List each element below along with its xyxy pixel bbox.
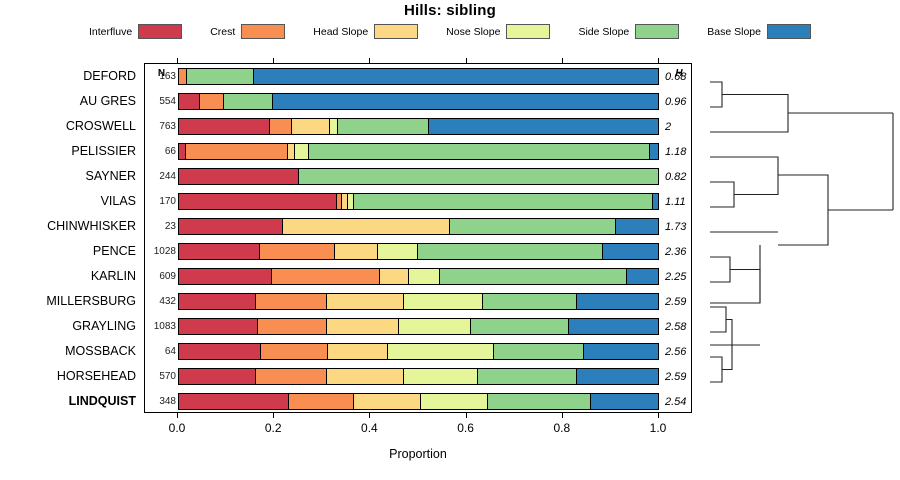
stacked-bar[interactable] xyxy=(178,93,659,110)
stacked-bar[interactable] xyxy=(178,168,659,185)
bar-segment[interactable] xyxy=(650,144,658,159)
h-value: 0.82 xyxy=(662,171,696,183)
h-value: 0.68 xyxy=(662,71,696,83)
bar-segment[interactable] xyxy=(292,119,330,134)
n-value: 432 xyxy=(145,296,176,308)
y-axis-label: PELISSIER xyxy=(4,144,144,158)
bar-segment[interactable] xyxy=(338,119,430,134)
x-axis-tick-label: 0.2 xyxy=(253,421,293,435)
page-title: Hills: sibling xyxy=(0,2,900,19)
bar-segment[interactable] xyxy=(270,119,292,134)
bar-segment[interactable] xyxy=(603,244,658,259)
x-axis-tick-label: 0.4 xyxy=(349,421,389,435)
dendrogram-svg xyxy=(700,60,900,415)
legend-swatch xyxy=(506,24,550,39)
bar-segment[interactable] xyxy=(409,269,440,284)
bar-segment[interactable] xyxy=(179,319,258,334)
h-value: 1.11 xyxy=(662,196,696,208)
chart-row: 5702.59 xyxy=(145,364,691,389)
bar-segment[interactable] xyxy=(179,344,261,359)
y-axis-label: PENCE xyxy=(4,244,144,258)
bar-segment[interactable] xyxy=(380,269,409,284)
legend-item: Crest xyxy=(210,24,285,39)
x-axis-tick-label: 1.0 xyxy=(638,421,678,435)
bar-segment[interactable] xyxy=(584,344,658,359)
bar-segment[interactable] xyxy=(330,119,337,134)
bar-segment[interactable] xyxy=(616,219,658,234)
bar-segment[interactable] xyxy=(179,369,256,384)
bar-segment[interactable] xyxy=(261,344,328,359)
bar-segment[interactable] xyxy=(179,394,289,409)
h-value: 2.59 xyxy=(662,371,696,383)
bar-segment[interactable] xyxy=(418,244,602,259)
stacked-bar[interactable] xyxy=(178,193,659,210)
chart-row: 10282.36 xyxy=(145,239,691,264)
bar-segment[interactable] xyxy=(440,269,627,284)
n-value: 1083 xyxy=(145,321,176,333)
bar-segment[interactable] xyxy=(327,319,399,334)
bar-segment[interactable] xyxy=(179,244,260,259)
bar-segment[interactable] xyxy=(179,219,283,234)
bar-segment[interactable] xyxy=(327,369,404,384)
bar-segment[interactable] xyxy=(429,119,657,134)
y-axis-label: MILLERSBURG xyxy=(4,294,144,308)
x-axis-tick xyxy=(562,413,563,418)
x-axis-tick-top xyxy=(466,58,467,63)
h-value: 2.25 xyxy=(662,271,696,283)
h-value: 2.36 xyxy=(662,246,696,258)
y-axis-label: CROSWELL xyxy=(4,119,144,133)
chart-row: 1630.68 xyxy=(145,64,691,89)
bar-segment[interactable] xyxy=(200,94,224,109)
bar-segment[interactable] xyxy=(354,194,653,209)
x-axis-tick-top xyxy=(177,58,178,63)
stacked-bar[interactable] xyxy=(178,218,659,235)
bar-segment[interactable] xyxy=(378,244,419,259)
h-value: 2.54 xyxy=(662,396,696,408)
y-axis-label: VILAS xyxy=(4,194,144,208)
bar-segment[interactable] xyxy=(471,319,569,334)
bar-segment[interactable] xyxy=(591,394,658,409)
bar-segment[interactable] xyxy=(272,269,380,284)
bar-segment[interactable] xyxy=(335,244,378,259)
chart-row: 5540.96 xyxy=(145,89,691,114)
chart-row: 3482.54 xyxy=(145,389,691,414)
y-axis-label: SAYNER xyxy=(4,169,144,183)
bar-segment[interactable] xyxy=(179,169,299,184)
y-axis-label: AU GRES xyxy=(4,94,144,108)
bar-segment[interactable] xyxy=(256,294,328,309)
x-axis-tick-top xyxy=(562,58,563,63)
x-axis-tick xyxy=(273,413,274,418)
chart-row: 1701.11 xyxy=(145,189,691,214)
x-axis-tick-top xyxy=(273,58,274,63)
x-axis-tick-top xyxy=(658,58,659,63)
chart-row: 661.18 xyxy=(145,139,691,164)
bar-segment[interactable] xyxy=(295,144,309,159)
legend-label: Base Slope xyxy=(707,26,761,38)
bar-segment[interactable] xyxy=(179,194,337,209)
n-value: 570 xyxy=(145,371,176,383)
legend-swatch xyxy=(767,24,811,39)
chart-root: Hills: sibling InterfluveCrestHead Slope… xyxy=(0,0,900,480)
bar-segment[interactable] xyxy=(627,269,658,284)
legend-label: Nose Slope xyxy=(446,26,500,38)
plot-area: NH1630.685540.967632661.182440.821701.11… xyxy=(144,63,692,413)
x-axis-tick-label: 0.6 xyxy=(446,421,486,435)
bar-segment[interactable] xyxy=(478,369,576,384)
y-axis-label: DEFORD xyxy=(4,69,144,83)
bar-segment[interactable] xyxy=(179,119,270,134)
stacked-bar[interactable] xyxy=(178,243,659,260)
bar-segment[interactable] xyxy=(179,94,200,109)
bar-segment[interactable] xyxy=(404,294,483,309)
n-value: 609 xyxy=(145,271,176,283)
n-value: 23 xyxy=(145,221,176,233)
stacked-bar[interactable] xyxy=(178,343,659,360)
legend-item: Side Slope xyxy=(578,24,679,39)
n-value: 348 xyxy=(145,396,176,408)
x-axis-tick xyxy=(658,413,659,418)
n-value: 763 xyxy=(145,121,176,133)
bar-segment[interactable] xyxy=(179,269,272,284)
bar-segment[interactable] xyxy=(289,394,354,409)
legend-label: Head Slope xyxy=(313,26,368,38)
legend-item: Nose Slope xyxy=(446,24,550,39)
chart-row: 2440.82 xyxy=(145,164,691,189)
h-value: 1.18 xyxy=(662,146,696,158)
bar-segment[interactable] xyxy=(450,219,617,234)
bar-segment[interactable] xyxy=(224,94,273,109)
y-axis-label: MOSSBACK xyxy=(4,344,144,358)
bar-segment[interactable] xyxy=(327,294,404,309)
legend-item: Base Slope xyxy=(707,24,811,39)
h-value: 2 xyxy=(662,121,696,133)
n-value: 66 xyxy=(145,146,176,158)
stacked-bar[interactable] xyxy=(178,293,659,310)
dendrogram xyxy=(700,60,900,415)
bar-segment[interactable] xyxy=(260,244,334,259)
n-value: 64 xyxy=(145,346,176,358)
bar-segment[interactable] xyxy=(404,369,478,384)
bar-segment[interactable] xyxy=(186,144,288,159)
n-value: 554 xyxy=(145,96,176,108)
stacked-bar[interactable] xyxy=(178,118,659,135)
stacked-bar[interactable] xyxy=(178,318,659,335)
x-axis-tick xyxy=(466,413,467,418)
bar-segment[interactable] xyxy=(653,194,658,209)
chart-row: 10832.58 xyxy=(145,314,691,339)
n-value: 170 xyxy=(145,196,176,208)
bar-segment[interactable] xyxy=(328,344,388,359)
stacked-bar[interactable] xyxy=(178,393,659,410)
x-axis-tick xyxy=(369,413,370,418)
chart-row: 7632 xyxy=(145,114,691,139)
bar-segment[interactable] xyxy=(179,294,256,309)
bar-segment[interactable] xyxy=(179,69,187,84)
bar-segment[interactable] xyxy=(483,294,576,309)
bar-segment[interactable] xyxy=(254,69,658,84)
stacked-bar[interactable] xyxy=(178,368,659,385)
bar-segment[interactable] xyxy=(283,219,450,234)
stacked-bar[interactable] xyxy=(178,143,659,160)
y-axis-label: GRAYLING xyxy=(4,319,144,333)
chart-row: 4322.59 xyxy=(145,289,691,314)
legend-label: Crest xyxy=(210,26,235,38)
legend-swatch xyxy=(138,24,182,39)
bar-segment[interactable] xyxy=(273,94,658,109)
legend-item: Interfluve xyxy=(89,24,182,39)
x-axis-title: Proportion xyxy=(144,447,692,461)
bar-segment[interactable] xyxy=(577,294,658,309)
n-value: 163 xyxy=(145,71,176,83)
bar-segment[interactable] xyxy=(187,69,254,84)
bar-segment[interactable] xyxy=(569,319,658,334)
bar-segment[interactable] xyxy=(388,344,493,359)
bar-segment[interactable] xyxy=(299,169,658,184)
legend-item: Head Slope xyxy=(313,24,418,39)
bar-segment[interactable] xyxy=(577,369,658,384)
x-axis-tick-label: 0.8 xyxy=(542,421,582,435)
x-axis-tick xyxy=(177,413,178,418)
h-value: 1.73 xyxy=(662,221,696,233)
bar-segment[interactable] xyxy=(309,144,650,159)
legend-swatch xyxy=(635,24,679,39)
h-value: 2.56 xyxy=(662,346,696,358)
bar-rows: NH1630.685540.967632661.182440.821701.11… xyxy=(145,64,691,412)
chart-row: 642.56 xyxy=(145,339,691,364)
bar-segment[interactable] xyxy=(258,319,327,334)
h-value: 2.59 xyxy=(662,296,696,308)
legend-label: Side Slope xyxy=(578,26,629,38)
y-axis-label: KARLIN xyxy=(4,269,144,283)
legend-swatch xyxy=(374,24,418,39)
bar-segment[interactable] xyxy=(288,144,295,159)
chart-row: 231.73 xyxy=(145,214,691,239)
h-value: 2.58 xyxy=(662,321,696,333)
x-axis-tick-top xyxy=(369,58,370,63)
legend-label: Interfluve xyxy=(89,26,132,38)
bar-segment[interactable] xyxy=(421,394,488,409)
y-axis-label: LINDQUIST xyxy=(4,394,144,408)
bar-segment[interactable] xyxy=(256,369,328,384)
stacked-bar[interactable] xyxy=(178,68,659,85)
bar-segment[interactable] xyxy=(399,319,471,334)
legend-swatch xyxy=(241,24,285,39)
x-axis-tick-label: 0.0 xyxy=(157,421,197,435)
bar-segment[interactable] xyxy=(354,394,421,409)
bar-segment[interactable] xyxy=(179,144,186,159)
legend: InterfluveCrestHead SlopeNose SlopeSide … xyxy=(0,24,900,39)
chart-row: 6092.25 xyxy=(145,264,691,289)
h-value: 0.96 xyxy=(662,96,696,108)
bar-segment[interactable] xyxy=(488,394,591,409)
y-axis-label: HORSEHEAD xyxy=(4,369,144,383)
n-value: 1028 xyxy=(145,246,176,258)
stacked-bar[interactable] xyxy=(178,268,659,285)
y-axis-label: CHINWHISKER xyxy=(4,219,144,233)
bar-segment[interactable] xyxy=(494,344,584,359)
n-value: 244 xyxy=(145,171,176,183)
